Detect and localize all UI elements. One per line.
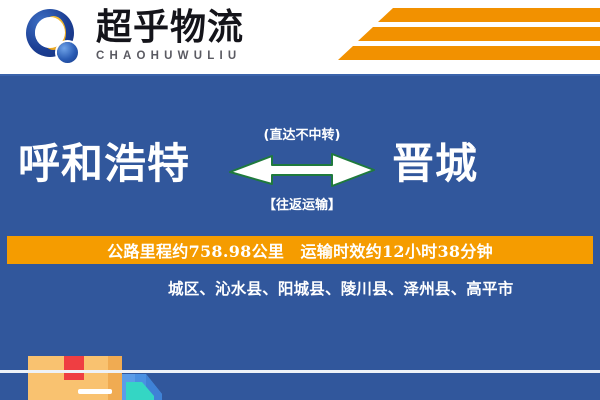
distance-duration-strip: 公路里程约758.98公里 运输时效约12小时38分钟 bbox=[7, 236, 593, 264]
destination-city: 晋城 bbox=[392, 136, 478, 192]
brand-name-en: CHAOHUWULIU bbox=[96, 49, 244, 63]
delivery-truck-icon bbox=[22, 352, 170, 400]
origin-city: 呼和浩特 bbox=[18, 136, 190, 192]
brand-block: 超乎物流 CHAOHUWULIU bbox=[96, 8, 244, 63]
double-headed-arrow-icon bbox=[228, 148, 376, 188]
direct-note-label: (直达不中转) bbox=[228, 124, 376, 143]
header-divider bbox=[0, 74, 600, 76]
distance-duration-text: 公路里程约758.98公里 运输时效约12小时38分钟 bbox=[107, 238, 493, 262]
brand-name-cn: 超乎物流 bbox=[96, 8, 244, 48]
coverage-area-text: 城区、沁水县、阳城县、陵川县、泽州县、高平市 bbox=[168, 277, 513, 299]
banner-body: 呼和浩特 (直达不中转) 【往返运输】 晋城 公路里程约758.98公里 运输时… bbox=[0, 74, 600, 400]
logo-sphere-accent bbox=[57, 42, 78, 63]
logistics-route-banner: 超乎物流 CHAOHUWULIU 呼和浩特 (直达不中转) 【往返运输】 bbox=[0, 0, 600, 400]
route-middle-block: (直达不中转) 【往返运输】 bbox=[228, 120, 376, 220]
stripe-1 bbox=[378, 8, 600, 22]
coverage-area-list: 城区、沁水县、阳城县、陵川县、泽州县、高平市 bbox=[168, 274, 588, 302]
header-stripes-decoration bbox=[330, 6, 600, 66]
banner-header: 超乎物流 CHAOHUWULIU bbox=[0, 0, 600, 74]
stripe-2 bbox=[358, 27, 600, 41]
route-row: 呼和浩特 (直达不中转) 【往返运输】 晋城 bbox=[0, 120, 600, 220]
road-line bbox=[0, 370, 600, 373]
roundtrip-note-label: 【往返运输】 bbox=[228, 194, 376, 213]
chaohu-logistics-logo-icon bbox=[26, 9, 84, 67]
stripe-3 bbox=[338, 46, 600, 60]
